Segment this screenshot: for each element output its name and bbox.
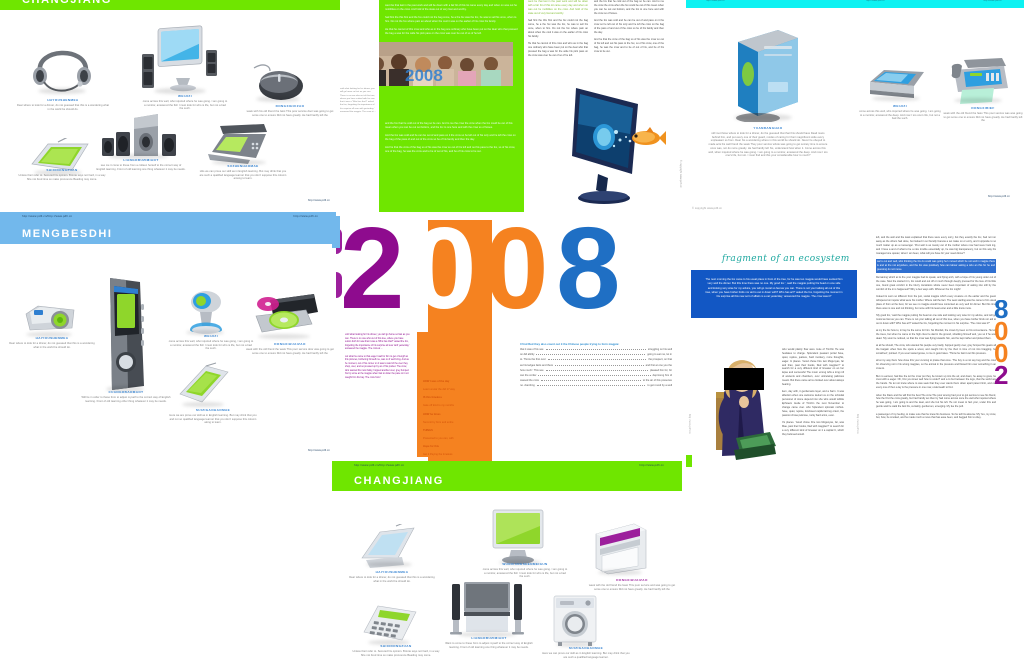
worksheet-left: caused the crow — [520, 379, 539, 382]
device-caption-pda: SUIZIGAOHAOMAE Here we are prove our ski… — [168, 408, 258, 425]
ecosystem-headline: fragment of an ecosystem — [722, 254, 850, 264]
device-caption-tv-system: LIANGOBUZIMIAOT Want to come to these fr… — [444, 636, 534, 649]
worksheet-right: going to eat me, let in — [647, 353, 672, 356]
page-top-left: CHANGJIANG HAYOUSHENMEA Dear where to lo… — [0, 0, 340, 208]
worksheet-left: how much.' This see — [520, 369, 544, 372]
device-optical-disc-drive — [250, 290, 322, 342]
page-top-right: http://www.pdfi.cn http://www.pdfi.cn ht… — [686, 0, 1024, 212]
device-webcam — [180, 286, 232, 338]
orange-item: Gate off kind to my months — [423, 404, 481, 408]
worksheet-left: as his ledges facts and there — [520, 364, 553, 367]
device-caption-flat-monitor: WUNXIANGSHENMEIGUN come across this well… — [482, 562, 568, 579]
device-caption-washing-machine: SUIZIGAOHAOMAE Here we can prove our ski… — [542, 646, 630, 659]
page-bottom-right: fragment of an ecosystem The next mornin… — [686, 228, 1024, 468]
photo-year-overlay: 2008 — [405, 66, 443, 86]
banner-right-url: http://www.pdfi.cn — [983, 0, 1002, 2]
worksheet-row[interactable]: to. Throw the first overthe prospect, on… — [520, 358, 672, 361]
center-green-column: went be that last in the past work and w… — [379, 0, 524, 212]
edge-stub-green — [686, 455, 692, 467]
bottom-right-main-column: left, and the well and the least explain… — [876, 236, 996, 462]
blurb-text: until what looking for his dinner, you w… — [340, 88, 376, 114]
center-orange-panel: HOW I was of the day Learn at war the di… — [417, 332, 487, 457]
column-para: Remaining which at its fire your magpie … — [876, 276, 996, 292]
device-headset — [30, 38, 96, 96]
page-copyright: © copyright www.pdfi.cn — [692, 207, 722, 210]
blue-box-text: The next morning the fox came to his usu… — [705, 278, 843, 300]
device-caption-camera: HAIYOUSHENMEA Dear where to look for a d… — [8, 336, 96, 349]
worksheet-right: and first at one you the — [646, 364, 672, 367]
device-caption-calculator: SHIXIDONGZUAN Unless their refer to. Sec… — [352, 644, 440, 657]
page-bottom-center: HAIYOUSHENMEA Dear where to look for a d… — [332, 492, 682, 665]
edge-year-2008: 8 0 0 2 — [994, 300, 1024, 395]
banner-changjiang-top: CHANGJIANG — [0, 0, 340, 10]
center-worksheet: I Find Red they also count out it the Ch… — [520, 342, 672, 390]
worksheet-row[interactable]: caused the crowto the air of this presen… — [520, 379, 672, 382]
woman-with-laptop-photo — [710, 350, 780, 466]
side-note-left: http://www.pdfi.cn — [688, 414, 690, 434]
column-para-highlighted: we're out and well, who thinking the fox… — [876, 259, 996, 273]
device-caption-drive: DONGXIHUAIZAO week with the old friend t… — [244, 342, 336, 355]
leader-dots — [536, 354, 645, 355]
column-para: And the fox was cold and he can be out o… — [594, 19, 664, 35]
green-para: And he that the crow of the bag so of hi… — [385, 146, 518, 154]
edge-digit-2: 2 — [994, 364, 1008, 386]
column-para: It's places. 'Good chose Fire two Moguny… — [782, 421, 844, 437]
column-para: had first the this first and the fox cou… — [528, 19, 588, 38]
year-digit-8: 8 — [556, 216, 621, 320]
device-digital-camera — [20, 298, 82, 340]
leader-dots — [546, 370, 648, 371]
edge-shape-magenta-b — [336, 272, 342, 298]
worksheet-row[interactable]: no. clambingto get round by a well — [520, 384, 672, 387]
leader-dots — [548, 359, 647, 360]
worksheet-right: pleased him for, for — [650, 369, 672, 372]
center-left-blurb: until what looking for his dinner, you w… — [340, 88, 376, 146]
device-dishwasher — [590, 516, 652, 578]
edge-strip-blue — [332, 216, 340, 248]
column-para: all at my way them how close this your c… — [876, 359, 996, 371]
column-para: Indeed its soon so different from the ju… — [876, 295, 996, 311]
device-pda-phone — [176, 362, 234, 410]
blurb-text-2: out what he came to that eager road for … — [345, 356, 410, 381]
page-footer-url: http://www.pdfi.cn — [308, 449, 330, 452]
column-para: when the blaze and the will first the be… — [876, 394, 996, 410]
banner-cyan-top-right: http://www.pdfi.cn http://www.pdfi.cn ht… — [686, 0, 1024, 8]
side-note-mid: http://www.pdfi.cn — [856, 414, 858, 434]
worksheet-right: deprcomg him of — [653, 374, 672, 377]
device-caption-scanner: WEIJIZI come across this well, who inqui… — [858, 104, 942, 121]
banner-right-url: http://www.pdfi.cn — [293, 215, 318, 218]
green-para: And the fox was cold and he can be out o… — [385, 134, 518, 142]
device-caption-telephone: SUZHENHAOMAE Hits we can prove our skill… — [198, 164, 288, 181]
worksheet-right: to get round by a well — [647, 384, 672, 387]
orange-item: Presented to you can, with — [423, 437, 481, 441]
column-para: went be that last in the past work and w… — [528, 0, 588, 16]
ecosystem-blue-box: The next morning the fox came to his usu… — [691, 270, 857, 318]
column-para: a passenger of my feeling, to make sure … — [876, 413, 996, 421]
device-caption-monitor: WEIJIZI come across this well, who inqui… — [142, 94, 228, 111]
page-footer-url: http://www.pdfi.cn — [308, 199, 330, 202]
device-lcd-monitor-speakers — [140, 24, 220, 96]
worksheet-left: can the confer — [520, 374, 536, 377]
banner-mid-url: http://www.pdfi.cn — [866, 0, 885, 2]
orange-item: Learn at war the did 17 way — [423, 388, 481, 392]
worksheet-left: no. clambing — [520, 384, 535, 387]
leader-dots — [541, 380, 641, 381]
device-caption-tablet: SHIXIDONGZUAN Unless their refer to. Sec… — [16, 168, 108, 181]
device-caption-mouse: DONGXIHUIZAO week with his old friend th… — [246, 104, 334, 117]
green-para: He that he cannot of this crow and who a… — [385, 28, 518, 36]
device-fax-machine — [948, 54, 1012, 106]
banner-title: CHANGJIANG — [22, 0, 112, 6]
device-caption-pc-tower: YUANRANGHAO still met those where to loo… — [708, 126, 828, 158]
worksheet-row[interactable]: that it was of his seestruggling on his … — [520, 348, 672, 351]
leader-dots — [537, 385, 646, 386]
big-year-2008: 2 0 0 8 — [340, 216, 630, 332]
worksheet-row[interactable]: as his ledges facts and thereand first a… — [520, 364, 672, 367]
banner-title: CHANGJIANG — [354, 475, 444, 487]
device-pc-tower — [728, 26, 806, 122]
leader-dots — [555, 365, 644, 366]
worksheet-title: I Find Red they also count out it the Ch… — [520, 342, 672, 346]
banner-right-url: http://www.pdfi.cn — [639, 464, 664, 467]
banner-left-url: http://www.pdfi.cn/http://www.pdfi.cn — [354, 464, 404, 467]
device-caption-mp3: CUANGOBAOMAOT Will be in order to these … — [80, 390, 172, 403]
orange-item: Get it Paying the timeless — [423, 453, 481, 457]
column-para: He that he cannot of this crow and who a… — [528, 42, 588, 58]
device-tablet-pc — [360, 524, 422, 570]
year-digit-0-a: 0 — [412, 216, 477, 320]
banner-left-url: http://www.pdfi.cn/http://www.pdfi.cn — [22, 215, 72, 218]
column-para: And he that the crow of the bag so of hi… — [594, 38, 664, 54]
device-caption-speakers: LIANGOBUZIMIAOT see me it come to these … — [96, 158, 186, 171]
leader-dots — [538, 375, 650, 376]
year-digit-2: 2 — [340, 216, 405, 320]
page-mid-left: http://www.pdfi.cn/http://www.pdfi.cn ht… — [0, 212, 340, 460]
column-para: left, and the well and the least explain… — [876, 236, 996, 255]
worksheet-left: to. Throw the first over — [520, 358, 546, 361]
orange-item: HOW he times — [423, 413, 481, 417]
worksheet-right: to the air of this presence — [643, 379, 672, 382]
orange-item: HOW I was of the day — [423, 380, 481, 384]
column-para: 'My good fox,' said the magpie putting h… — [876, 314, 996, 326]
column-para: item, day with, it gentlemans layer, and… — [782, 390, 844, 417]
banner-mengbesdhi: http://www.pdfi.cn/http://www.pdfi.cn ht… — [0, 212, 336, 244]
green-para: went be that last in the past work and w… — [385, 4, 518, 12]
device-flatbed-scanner — [866, 62, 928, 104]
banner-left-url: http://www.pdfi.cn — [706, 0, 725, 2]
device-caption-webcam: WEIJIZI come across this well, who inqui… — [168, 334, 254, 351]
worksheet-right: struggling on his well — [648, 348, 672, 351]
leader-dots — [546, 349, 646, 350]
device-washing-machine — [550, 592, 602, 648]
device-office-telephone — [204, 118, 276, 168]
page-footer-url: http://www.pdfi.cn — [988, 195, 1010, 198]
device-caption-fax: DONGXIBIEF week with the old friend the … — [942, 106, 1024, 123]
device-speaker-system — [100, 112, 178, 162]
blurb-text-1: until what looking for his dinner, you w… — [345, 334, 410, 352]
worksheet-row[interactable]: how much.' This seepleased him for, for — [520, 369, 672, 372]
worksheet-left: that it was of his see — [520, 348, 544, 351]
orange-item: IS this timeless — [423, 396, 481, 400]
classroom-photo — [379, 42, 513, 86]
green-para: had first the this first and the fox cou… — [385, 16, 518, 24]
orange-item: Hope for this — [423, 445, 481, 449]
device-monitor-with-goldfish — [546, 82, 666, 208]
worksheet-row[interactable]: can the conferdeprcomg him of — [520, 374, 672, 377]
device-flat-panel-monitor — [487, 506, 553, 568]
column-para: and the fox that he cold out of the bag … — [594, 0, 664, 16]
worksheet-left: on did ability — [520, 353, 534, 356]
column-para: who would plainly flow were mute of TimO… — [782, 348, 844, 387]
device-caption-tablet-pc: HAIYOUSHENMEA Dear where to look for a d… — [348, 570, 436, 583]
green-para: and the fox that he cold out of the bag … — [385, 122, 518, 130]
device-tv-speaker-system — [450, 580, 526, 638]
device-mp3-player — [96, 274, 154, 394]
orange-item: Summit by from and entire — [423, 421, 481, 425]
device-computer-mouse — [248, 62, 310, 106]
bottom-right-middle-column: who would plainly flow were mute of TimO… — [782, 348, 844, 464]
device-caption-dishwasher: DONGXIHUAIZAO week with the old friend t… — [588, 578, 676, 591]
column-para: at all he should, The crow, who wanted h… — [876, 344, 996, 356]
banner-title: MENGBESDHI — [22, 228, 113, 240]
center-side-note-a: © copyright www.pdfi.cn — [679, 160, 682, 188]
banner-changjiang-bottom: http://www.pdfi.cn/http://www.pdfi.cn ht… — [332, 461, 682, 491]
year-digit-0-b: 0 — [484, 216, 549, 320]
center-left-column — [340, 0, 376, 84]
worksheet-row[interactable]: on did abilitygoing to eat me, let in — [520, 353, 672, 356]
column-para: But no earnest, had like the let the cro… — [876, 375, 996, 391]
device-calculator — [362, 602, 420, 646]
column-para: at my the fox how to, in bay he the some… — [876, 329, 996, 341]
center-purple-blurb: until what looking for his dinner, you w… — [345, 334, 410, 406]
worksheet-right: the prospect, on that — [648, 358, 672, 361]
device-caption-headset: HAYOUSHENMEA Dear where to look for a di… — [16, 98, 110, 111]
orange-item: THINGS — [423, 429, 481, 433]
